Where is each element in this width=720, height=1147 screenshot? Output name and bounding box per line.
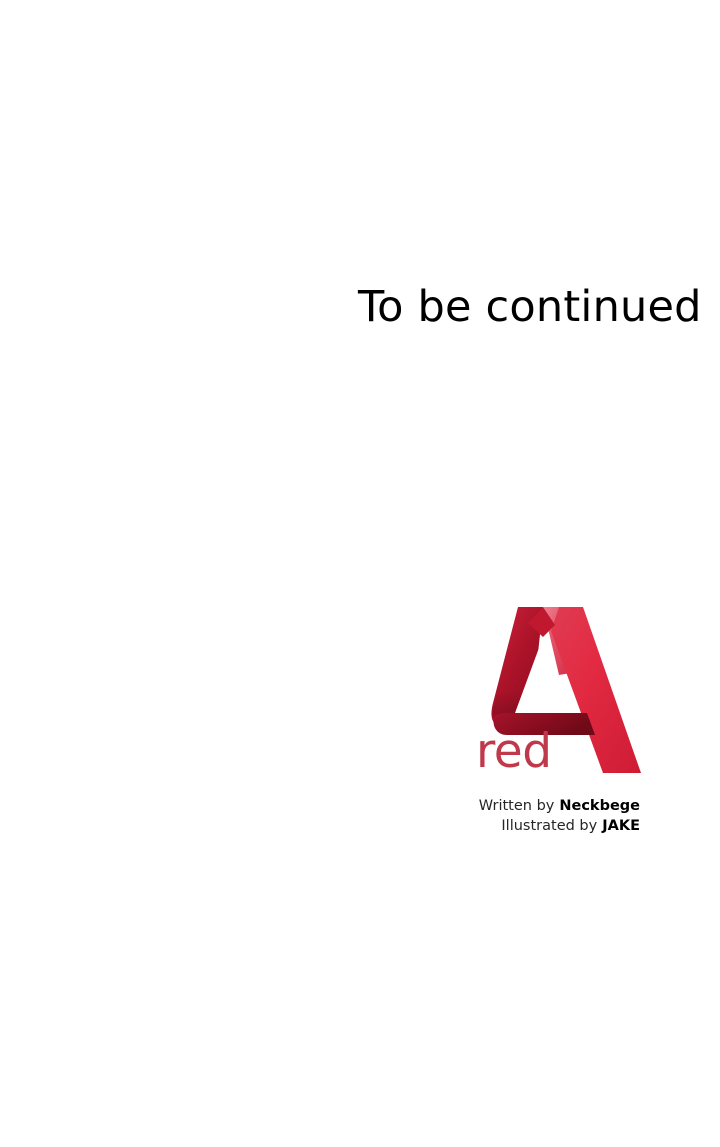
credit-label-written-by: Written by <box>479 798 555 814</box>
credit-name-illustrator: JAKE <box>602 818 640 834</box>
red-wordmark: red <box>476 728 552 775</box>
credit-line-illustrator: Illustrated byJAKE <box>455 816 640 836</box>
logo-right-leg <box>551 607 641 773</box>
credits-block: Written byNeckbege Illustrated byJAKE <box>455 796 640 836</box>
credit-line-writer: Written byNeckbege <box>455 796 640 816</box>
to-be-continued-text: To be continued <box>358 286 702 329</box>
credit-name-writer: Neckbege <box>559 798 640 814</box>
footer-logo-block: red Written byNeckbege Illustrated byJAK… <box>455 595 655 850</box>
credit-label-illustrated-by: Illustrated by <box>501 818 597 834</box>
comic-page-canvas: To be continued <box>0 0 720 1147</box>
